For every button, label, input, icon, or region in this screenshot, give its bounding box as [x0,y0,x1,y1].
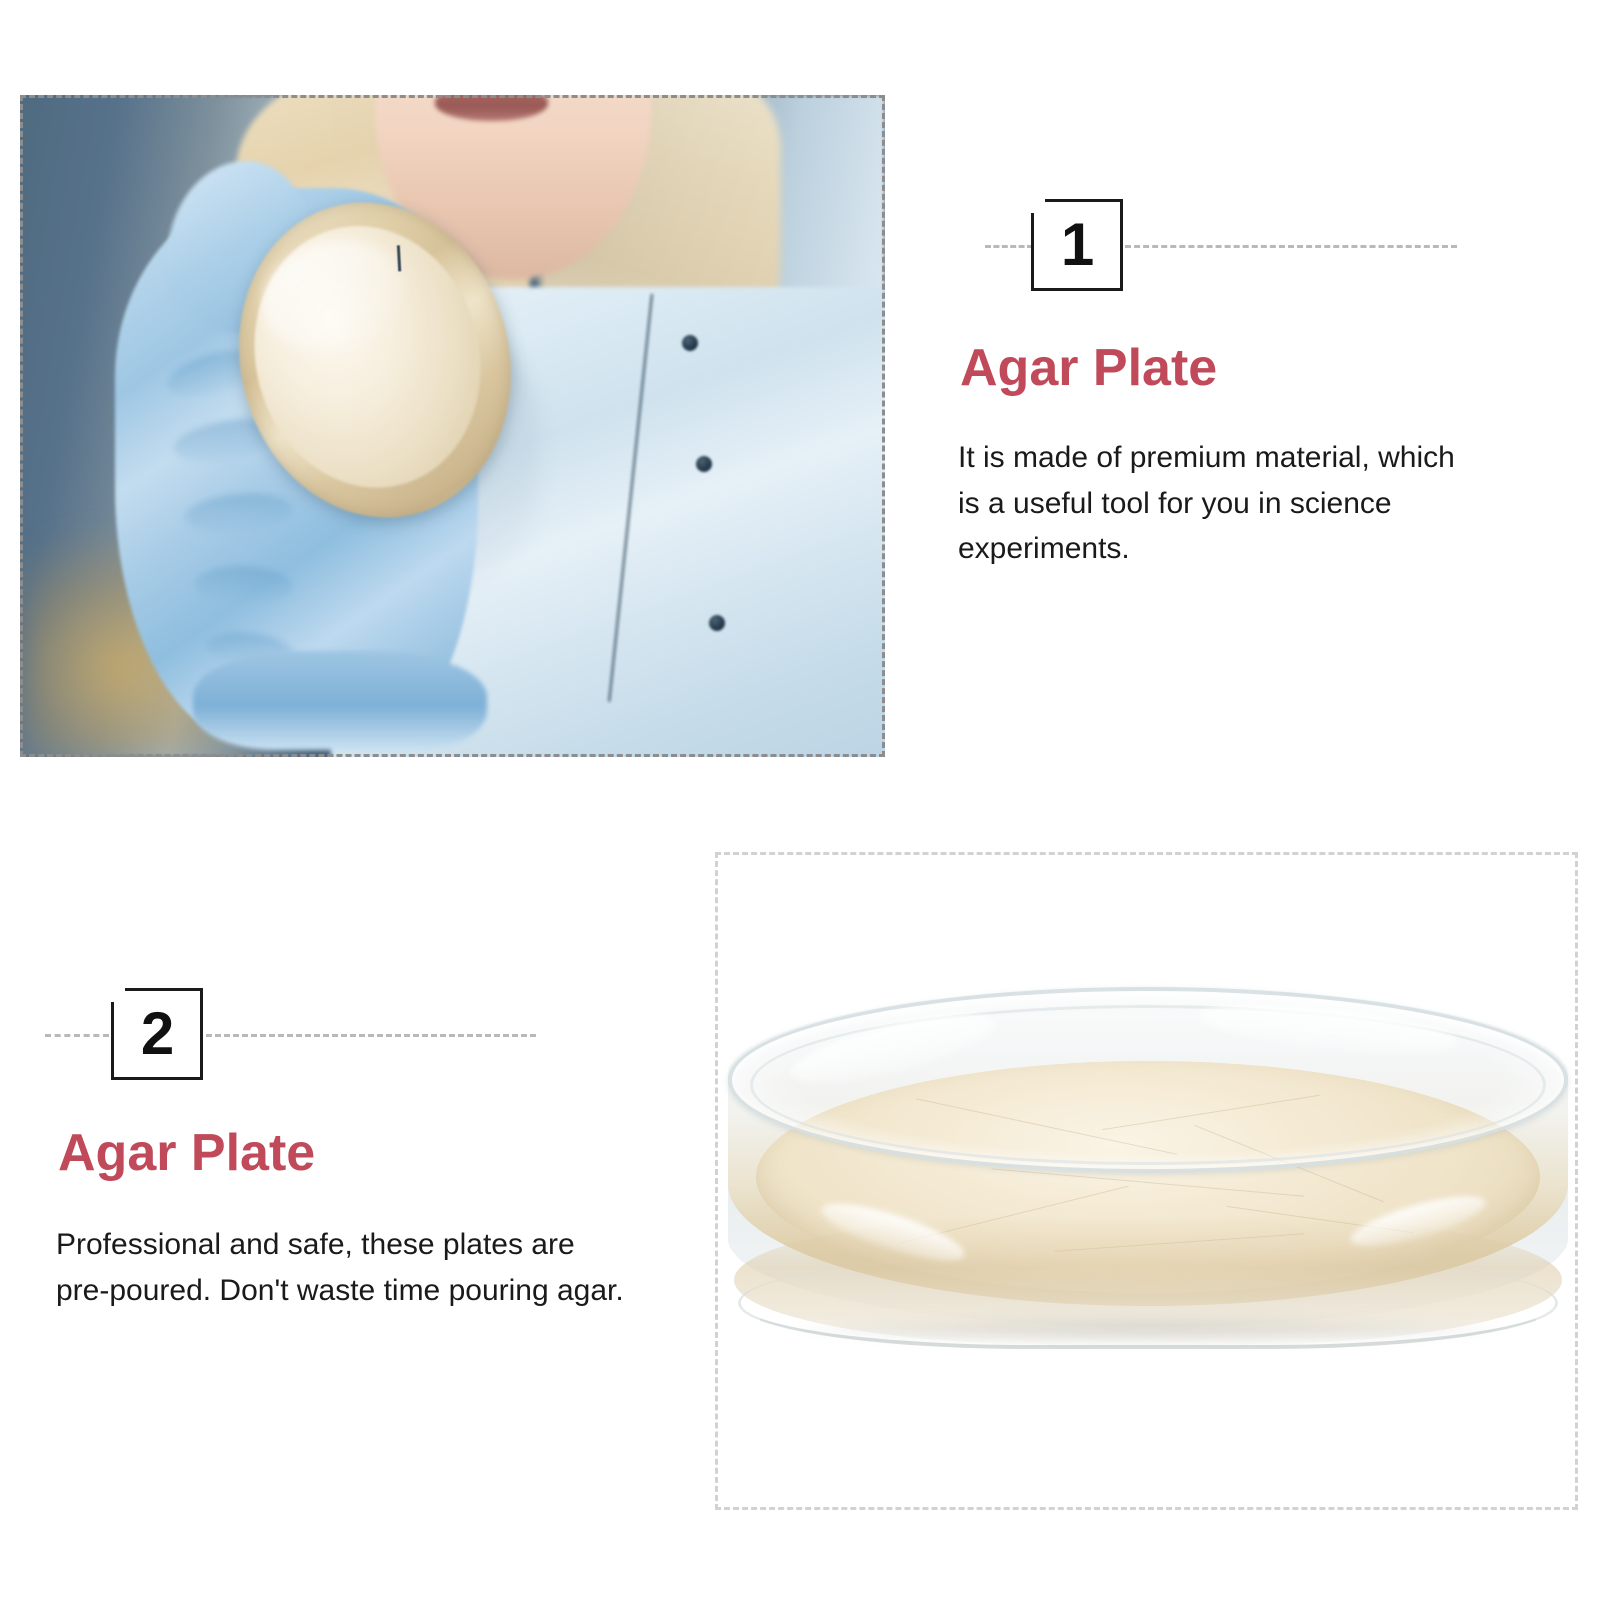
glove-fold [194,564,293,606]
section-heading-1: Agar Plate [960,340,1217,397]
rule-dashed-left-2 [45,1034,109,1037]
petri-dish-product-photo [728,965,1568,1355]
rule-dashed-right-2 [206,1034,536,1037]
scientist-holding-agar-plate-photo [20,95,885,757]
petri-dish-shadow [798,1317,1498,1343]
infographic-page: 1 Agar Plate It is made of premium mater… [0,0,1600,1600]
rule-dashed-right-1 [1125,245,1457,248]
step-number-badge-2: 2 [111,988,203,1080]
step-number-badge-1: 1 [1031,199,1123,291]
rule-dashed-left-1 [985,245,1033,248]
step-number-1: 1 [1031,199,1123,291]
lab-coat-button [682,335,698,351]
section-heading-2: Agar Plate [58,1125,315,1182]
section-body-2: Professional and safe, these plates are … [56,1222,636,1313]
lab-coat-button [709,615,725,631]
glove-cuff [193,651,487,750]
step-number-2: 2 [111,988,203,1080]
section-body-1: It is made of premium material, which is… [958,435,1478,572]
